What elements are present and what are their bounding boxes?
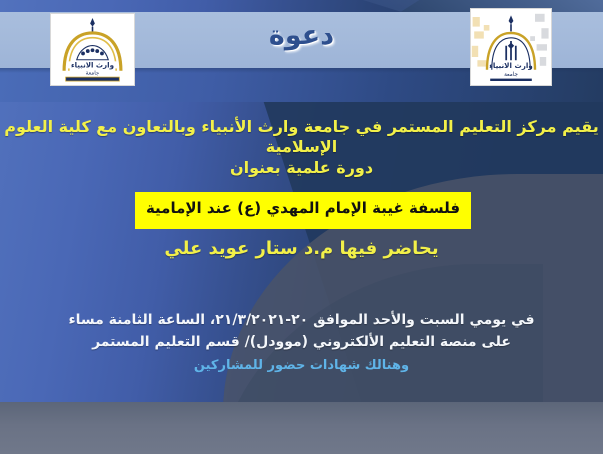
announcement-line-2: دورة علمية بعنوان xyxy=(0,158,603,178)
certificates-line: وهنالك شهادات حضور للمشاركين xyxy=(0,358,603,374)
course-title-highlight: فلسفة غيبة الإمام المهدي (ع) عند الإمامي… xyxy=(135,192,471,229)
svg-text:وارث الانبياء: وارث الانبياء xyxy=(71,61,114,70)
svg-text:جامعة: جامعة xyxy=(504,72,518,78)
warith-al-anbiyaa-logo-icon: وارث الانبياء جامعة xyxy=(51,14,134,85)
platform-line: على منصة التعليم الألكتروني (موودل)/ قسم… xyxy=(0,334,603,352)
warith-al-anbiyaa-logo-icon: وارث الانبياء جامعة xyxy=(471,9,551,85)
university-logo-right: وارث الانبياء جامعة xyxy=(470,8,552,86)
announcement-line-1: يقيم مركز التعليم المستمر في جامعة وارث … xyxy=(0,117,603,157)
svg-text:وارث الانبياء: وارث الانبياء xyxy=(489,61,533,70)
schedule-line: في يومي السبت والأحد الموافق ٢٠-٢١/٣/٢٠٢… xyxy=(0,312,603,330)
svg-text:جامعة: جامعة xyxy=(86,71,100,77)
presentation-slide: دعوة وارث الانبياء جامعة xyxy=(0,0,603,454)
course-title-text: فلسفة غيبة الإمام المهدي (ع) عند الإمامي… xyxy=(146,199,460,223)
university-logo-left: وارث الانبياء جامعة xyxy=(50,13,135,86)
footer-band xyxy=(0,402,603,454)
lecturer-line: يحاضر فيها م.د ستار عويد علي xyxy=(0,238,603,261)
